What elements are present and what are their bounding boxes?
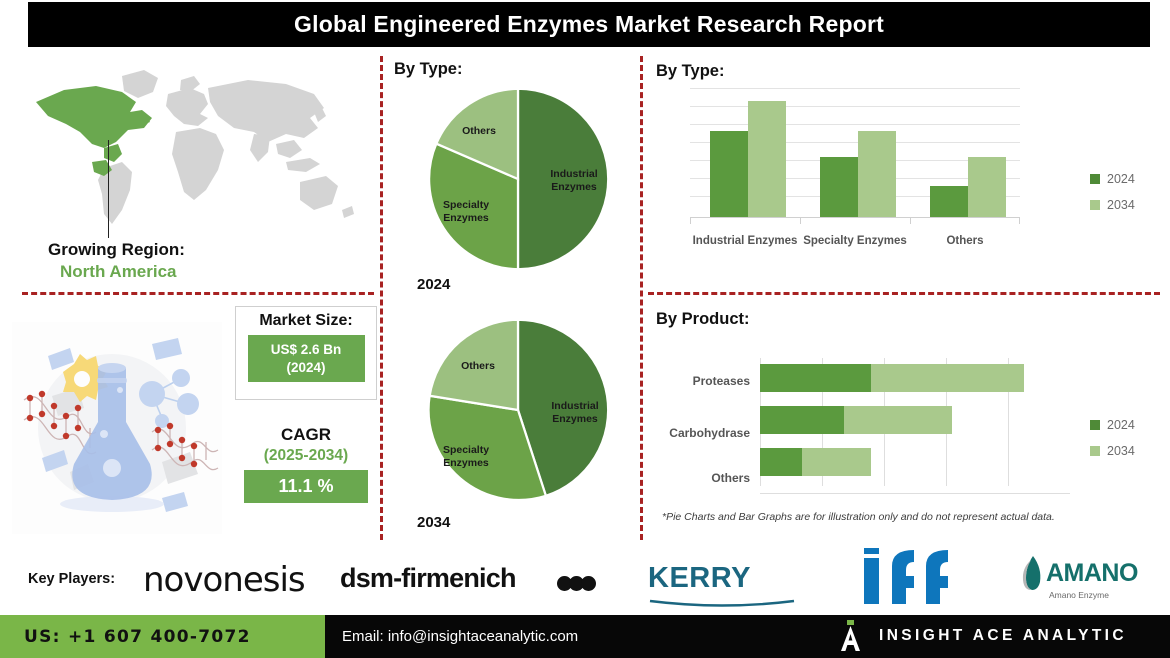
legend-label-product-2034: 2034 bbox=[1107, 444, 1135, 458]
phone-bar: US: +1 607 400-7072 bbox=[0, 615, 325, 658]
legend-product-chart: 2024 2034 bbox=[1090, 418, 1135, 470]
hbar-carbohydrase-2034 bbox=[844, 406, 952, 434]
brand-name: INSIGHT ACE ANALYTIC bbox=[879, 627, 1127, 645]
hbar-others-2024 bbox=[760, 448, 802, 476]
pie-2034-label-others: Others bbox=[448, 360, 508, 373]
pie-2024-label-specialty: SpecialtyEnzymes bbox=[428, 199, 504, 225]
market-size-title: Market Size: bbox=[236, 312, 376, 330]
hbar-label-others: Others bbox=[640, 471, 750, 485]
divider-horizontal-right bbox=[648, 292, 1160, 295]
brand-logo: INSIGHT ACE ANALYTIC bbox=[838, 620, 1127, 651]
logo-kerry: KERRY bbox=[648, 562, 796, 613]
disclaimer-text: *Pie Charts and Bar Graphs are for illus… bbox=[662, 511, 1055, 523]
legend-swatch-2034 bbox=[1090, 200, 1100, 210]
map-leader-line bbox=[108, 140, 109, 238]
column-cat-others: Others bbox=[910, 235, 1020, 247]
pie-2034-label-specialty: SpecialtyEnzymes bbox=[428, 444, 504, 470]
legend-item-2024: 2024 bbox=[1090, 172, 1135, 186]
pie-2024-year: 2024 bbox=[417, 276, 450, 293]
hbar-row-proteases bbox=[760, 364, 1024, 392]
key-players-label: Key Players: bbox=[28, 571, 115, 587]
legend-label-product-2024: 2024 bbox=[1107, 418, 1135, 432]
divider-horizontal-left bbox=[22, 292, 374, 295]
page-title: Global Engineered Enzymes Market Researc… bbox=[294, 11, 884, 38]
pie-2024-label-industrial: IndustrialEnzymes bbox=[537, 168, 611, 194]
dsm-dots-icon bbox=[560, 576, 596, 591]
title-bar: Global Engineered Enzymes Market Researc… bbox=[28, 2, 1150, 47]
legend-swatch-2024 bbox=[1090, 174, 1100, 184]
infographic-page: Global Engineered Enzymes Market Researc… bbox=[0, 0, 1170, 658]
iff-mark-icon bbox=[862, 548, 962, 604]
lab-flask-illustration bbox=[12, 322, 222, 534]
legend-item-product-2024: 2024 bbox=[1090, 418, 1135, 432]
logo-kerry-text: KERRY bbox=[648, 562, 796, 595]
column-specialty-2034 bbox=[858, 131, 896, 217]
legend-label-2034: 2034 bbox=[1107, 198, 1135, 212]
market-size-year: (2024) bbox=[286, 359, 325, 377]
column-specialty-2024 bbox=[820, 157, 858, 217]
legend-label-2024: 2024 bbox=[1107, 172, 1135, 186]
logo-amano-text: AMANO bbox=[1046, 559, 1138, 588]
phone-number[interactable]: US: +1 607 400-7072 bbox=[24, 627, 251, 647]
section-by-type-pie: By Type: bbox=[394, 60, 462, 79]
column-cat-specialty: Specialty Enzymes bbox=[800, 235, 910, 247]
section-by-type-bar: By Type: bbox=[656, 62, 724, 81]
logo-iff bbox=[862, 548, 962, 609]
cagr-block: CAGR (2025-2034) 11.1 % bbox=[237, 425, 375, 503]
cagr-value: 11.1 % bbox=[244, 470, 368, 503]
section-by-product: By Product: bbox=[656, 310, 750, 329]
hbar-row-others bbox=[760, 448, 871, 476]
column-others-2034 bbox=[968, 157, 1006, 217]
market-size-chip: US$ 2.6 Bn (2024) bbox=[248, 335, 365, 382]
pie-2034-year: 2034 bbox=[417, 514, 450, 531]
column-industrial-2024 bbox=[710, 131, 748, 217]
legend-column-chart: 2024 2034 bbox=[1090, 172, 1135, 224]
email-address[interactable]: Email: info@insightaceanalytic.com bbox=[342, 628, 578, 645]
column-industrial-2034 bbox=[748, 101, 786, 217]
hbar-others-2034 bbox=[802, 448, 871, 476]
logo-dsm-firmenich: dsm-firmenich bbox=[340, 563, 516, 594]
market-size-box: Market Size: US$ 2.6 Bn (2024) bbox=[235, 306, 377, 400]
hbar-row-carbohydrase bbox=[760, 406, 952, 434]
cagr-period: (2025-2034) bbox=[237, 447, 375, 465]
legend-item-product-2034: 2034 bbox=[1090, 444, 1135, 458]
world-map bbox=[18, 58, 368, 243]
legend-swatch-product-2024 bbox=[1090, 420, 1100, 430]
growing-region-label: Growing Region: bbox=[48, 240, 185, 260]
hbar-label-proteases: Proteases bbox=[640, 374, 750, 388]
hbar-proteases-2024 bbox=[760, 364, 871, 392]
legend-item-2034: 2034 bbox=[1090, 198, 1135, 212]
logo-amano: AMANO Amano Enzyme bbox=[1020, 554, 1138, 600]
hbar-label-carbohydrase: Carbohydrase bbox=[640, 426, 750, 440]
logo-novonesis: novonesis bbox=[143, 560, 305, 600]
column-chart-by-type bbox=[690, 88, 1020, 218]
brand-mark-icon bbox=[838, 620, 864, 651]
growing-region-value: North America bbox=[60, 262, 177, 282]
column-cat-industrial: Industrial Enzymes bbox=[690, 235, 800, 247]
column-others-2024 bbox=[930, 186, 968, 217]
market-size-value: US$ 2.6 Bn bbox=[271, 341, 342, 359]
cagr-title: CAGR bbox=[237, 425, 375, 445]
pie-2034-label-industrial: IndustrialEnzymes bbox=[538, 400, 612, 426]
divider-vertical-right bbox=[640, 56, 643, 540]
hbar-carbohydrase-2024 bbox=[760, 406, 844, 434]
amano-leaf-icon bbox=[1020, 554, 1046, 592]
bar-chart-by-product bbox=[760, 358, 1070, 486]
kerry-swoosh-icon bbox=[648, 598, 796, 608]
divider-vertical-left bbox=[380, 56, 383, 540]
pie-2024-label-others: Others bbox=[449, 125, 509, 138]
legend-swatch-product-2034 bbox=[1090, 446, 1100, 456]
hbar-proteases-2034 bbox=[871, 364, 1024, 392]
